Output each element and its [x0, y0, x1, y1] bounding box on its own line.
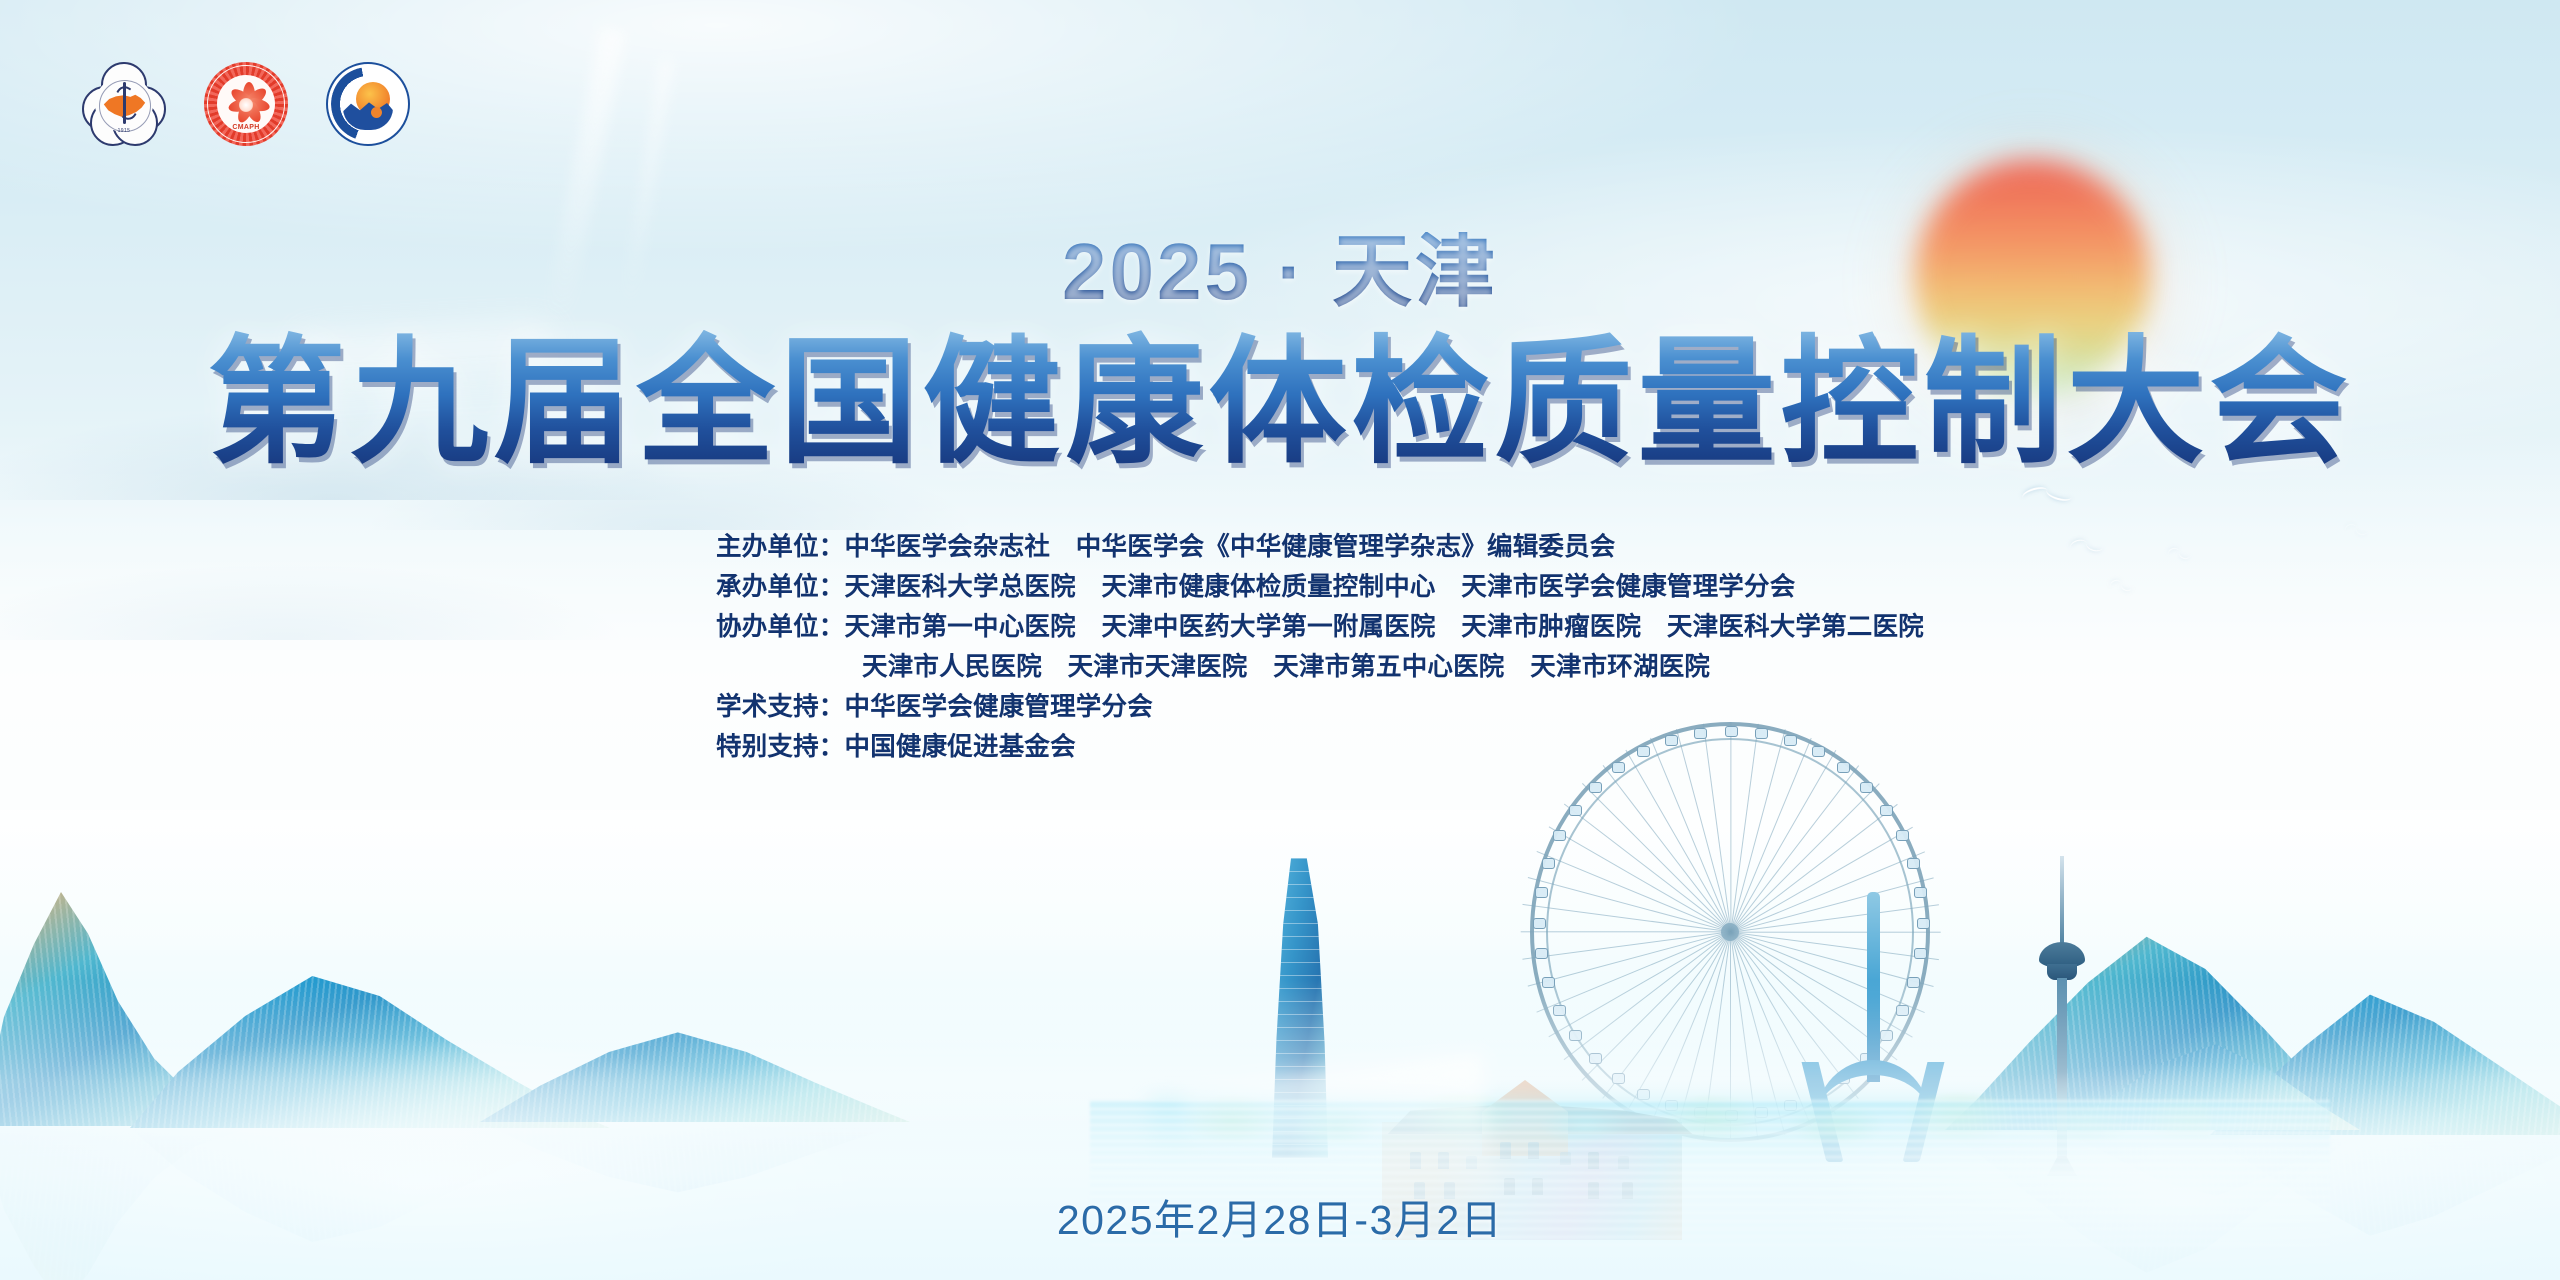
- ferris-wheel-cabin: [1860, 782, 1873, 793]
- mountain-left-peak: [0, 866, 280, 1126]
- ferris-wheel-cabin: [1589, 782, 1602, 793]
- organizer-line-host: 主办单位：中华医学会杂志社 中华医学会《中华健康管理学杂志》编辑委员会: [716, 527, 1924, 567]
- logo-abbr-label: CMAPH: [204, 124, 288, 131]
- ferris-wheel-cabin: [1535, 948, 1548, 959]
- organizer-line-academic-support: 学术支持：中华医学会健康管理学分会: [716, 687, 1924, 727]
- mountain-left-low: [480, 982, 910, 1122]
- organizer-line-special-support: 特别支持：中国健康促进基金会: [716, 727, 1924, 767]
- ferris-wheel-cabin: [1896, 830, 1909, 841]
- ferris-wheel-cabin: [1533, 918, 1546, 929]
- chinese-medical-association-logo[interactable]: 1915: [82, 62, 166, 146]
- conference-date: 2025年2月28日-3月2日: [0, 1186, 2560, 1246]
- ferris-wheel-cabin: [1535, 887, 1548, 898]
- tianjin-health-quality-control-logo[interactable]: [326, 62, 410, 146]
- organizer-logo-row: 1915 CMAPH: [82, 62, 410, 146]
- ferris-wheel-cabin: [1553, 830, 1566, 841]
- mountain-left-mid: [130, 928, 610, 1128]
- ferris-wheel-cabin: [1542, 977, 1555, 988]
- ferris-wheel-cabin: [1569, 1030, 1582, 1041]
- ferris-wheel-cabin: [1880, 805, 1893, 816]
- ferris-wheel-spoke: [1521, 931, 1731, 932]
- cmaph-logo[interactable]: CMAPH: [204, 62, 288, 146]
- accent-dot-icon: [371, 107, 382, 118]
- logo-year-label: 1915: [82, 128, 166, 134]
- organizer-credits-block: 主办单位：中华医学会杂志社 中华医学会《中华健康管理学杂志》编辑委员会 承办单位…: [716, 527, 1924, 767]
- organizer-line-coorganizer-cont: 天津市人民医院 天津市天津医院 天津市第五中心医院 天津市环湖医院: [716, 647, 1924, 687]
- organizer-line-undertaker: 承办单位：天津医科大学总医院 天津市健康体检质量控制中心 天津市医学会健康管理学…: [716, 567, 1924, 607]
- tianjin-skyline-illustration: [1230, 730, 2160, 1230]
- ferris-wheel-cabin: [1569, 805, 1582, 816]
- year-location-heading: 2025 · 天津: [0, 232, 2560, 312]
- logo-center-highlight: [239, 98, 253, 112]
- organizer-line-coorganizer: 协办单位：天津市第一中心医院 天津中医药大学第一附属医院 天津市肿瘤医院 天津医…: [716, 607, 1924, 647]
- ferris-wheel-cabin: [1907, 858, 1920, 869]
- ferris-wheel-cabin: [1542, 858, 1555, 869]
- ferris-wheel-cabin: [1589, 1053, 1602, 1064]
- page-title: 第九届全国健康体检质量控制大会: [0, 330, 2560, 476]
- ferris-wheel-cabin: [1553, 1005, 1566, 1016]
- conference-poster: 1915 CMAPH 2025 · 天津 第: [0, 0, 2560, 1280]
